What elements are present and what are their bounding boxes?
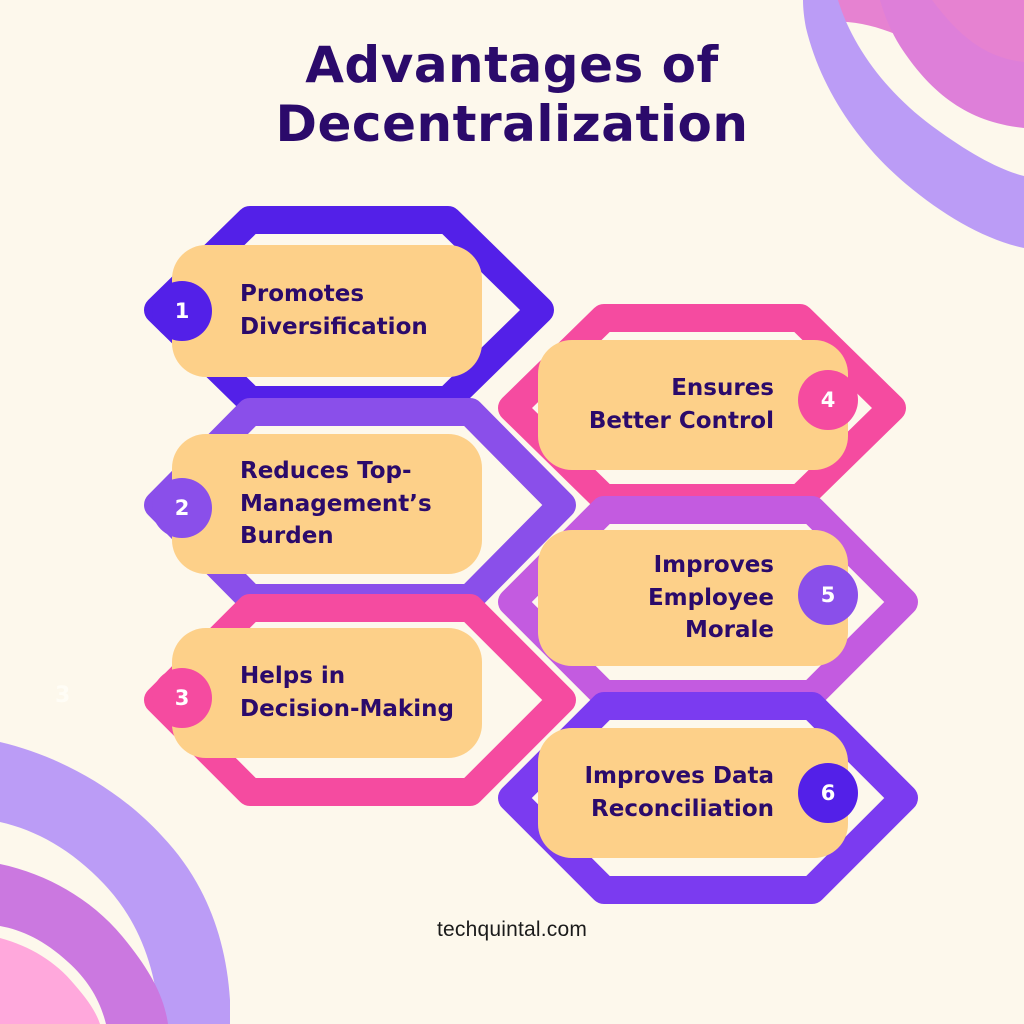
badge-item-1: 1 [152,281,212,341]
card-item-1[interactable]: Promotes Diversification [172,245,482,377]
badge-item-3-number: 3 [175,688,190,709]
badge-item-5-number: 5 [821,585,836,606]
card-item-1-line-1: Promotes [240,278,454,311]
card-item-5-line-2: Employee [566,582,774,615]
card-item-4-line-2: Better Control [566,405,774,438]
card-item-6-line-1: Improves Data [566,760,774,793]
card-item-2-line-2: Management’s [240,488,454,521]
card-item-1-line-2: Diversification [240,311,454,344]
card-item-5-line-1: Improves [566,549,774,582]
badge-item-5: 5 [798,565,858,625]
infographic-canvas: Advantages of Decentralization Promotes … [0,0,1024,1024]
watermark-artifact: 3 [55,683,70,708]
badge-item-4-number: 4 [821,390,836,411]
card-item-2-line-1: Reduces Top- [240,455,454,488]
badge-item-2-number: 2 [175,498,190,519]
badge-item-6: 6 [798,763,858,823]
badge-item-1-number: 1 [175,301,190,322]
card-item-3-line-1: Helps in [240,660,454,693]
card-item-3-line-2: Decision-Making [240,693,454,726]
badge-item-6-number: 6 [821,783,836,804]
card-item-3-text: Helps in Decision-Making [172,660,482,725]
card-item-3[interactable]: Helps in Decision-Making [172,628,482,758]
footer-site-url: techquintal.com [0,918,1024,942]
card-item-1-text: Promotes Diversification [172,278,482,343]
card-item-5-line-3: Morale [566,614,774,647]
card-item-2-line-3: Burden [240,520,454,553]
badge-item-2: 2 [152,478,212,538]
card-item-2[interactable]: Reduces Top- Management’s Burden [172,434,482,574]
badge-item-3: 3 [152,668,212,728]
card-item-2-text: Reduces Top- Management’s Burden [172,455,482,553]
badge-item-4: 4 [798,370,858,430]
card-item-6-line-2: Reconciliation [566,793,774,826]
card-item-4-line-1: Ensures [566,372,774,405]
